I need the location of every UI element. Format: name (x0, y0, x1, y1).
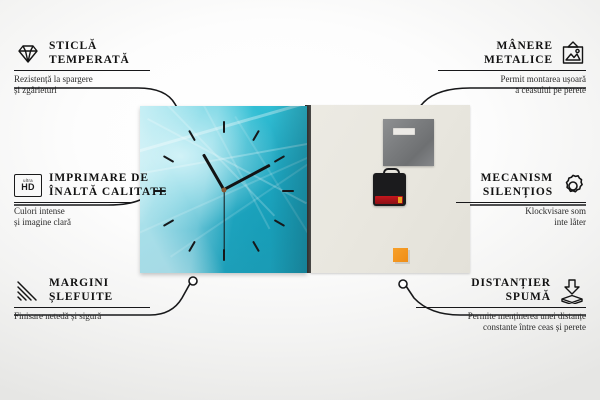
minute-hand (223, 164, 270, 191)
feature-sub-line1: Rezistență la spargere (14, 74, 164, 85)
feature-title-line2: TEMPERATĂ (49, 54, 130, 68)
feature-sub-line2: și zgârieturi (14, 85, 164, 96)
feature-metal-handles: MÂNERE METALICE Permit montarea ușoară a… (416, 40, 586, 96)
foam-spacer (393, 248, 408, 262)
hanger-slot (393, 128, 415, 135)
feature-rule (14, 307, 150, 308)
feature-title-line2: SPUMĂ (471, 291, 551, 305)
connector-dot-polished-edges (189, 277, 197, 285)
feature-silent-mechanism: MECANISM SILENȚIOS Klockvisare som inte … (416, 172, 586, 228)
feature-title-line2: ȘLEFUITE (49, 291, 113, 305)
feature-sub-line1: Permite menținerea unei distanțe (396, 311, 586, 322)
feature-rule (14, 202, 134, 203)
feature-rule (14, 70, 150, 71)
feature-title-line1: MÂNERE (484, 40, 553, 54)
feature-title-line1: IMPRIMARE DE (49, 172, 167, 186)
press-down-pad-icon (558, 278, 586, 304)
feature-rule (456, 202, 586, 203)
ultra-hd-icon: ultra HD (14, 174, 42, 197)
feature-sub-line2: și imagine clară (14, 217, 174, 228)
feature-title-line1: STICLĂ (49, 40, 130, 54)
feature-high-quality-print: ultra HD IMPRIMARE DE ÎNALTĂ CALITATE Cu… (14, 172, 174, 228)
feature-rule (416, 307, 586, 308)
second-hand (223, 190, 224, 252)
feature-title-line2: ÎNALTĂ CALITATE (49, 186, 167, 200)
feature-title-line2: SILENȚIOS (481, 186, 553, 200)
feature-title-line1: MECANISM (481, 172, 553, 186)
battery (375, 196, 403, 204)
gear-icon (560, 173, 586, 199)
feature-sub-line1: Finisare netedă și sigură (14, 311, 174, 322)
battery-terminal (398, 197, 402, 203)
ultra-hd-icon-main: HD (21, 183, 34, 192)
hour-hand (202, 153, 225, 190)
feature-title-line2: METALICE (484, 54, 553, 68)
diamond-icon (14, 43, 42, 65)
feature-title-line1: MARGINI (49, 277, 113, 291)
mechanism-hanger-loop (383, 168, 400, 178)
polished-edge-icon (14, 279, 42, 302)
quartz-mechanism (373, 173, 406, 206)
feature-sub-line2: constante între ceas și perete (396, 322, 586, 333)
feature-sub-line1: Culori intense (14, 206, 174, 217)
feature-tempered-glass: STICLĂ TEMPERATĂ Rezistență la spargere … (14, 40, 164, 96)
feature-foam-spacer: DISTANȚIER SPUMĂ Permite menținerea unei… (396, 277, 586, 333)
clock-hub (221, 187, 226, 192)
feature-sub-line2: a ceasului pe perete (416, 85, 586, 96)
wall-mount-frame-icon (560, 41, 586, 66)
feature-sub-line2: inte låter (416, 217, 586, 228)
feature-sub-line1: Klockvisare som (416, 206, 586, 217)
feature-polished-edges: MARGINI ȘLEFUITE Finisare netedă și sigu… (14, 277, 174, 322)
metal-hanger-plate (383, 119, 434, 166)
feature-rule (438, 70, 586, 71)
feature-sub-line1: Permit montarea ușoară (416, 74, 586, 85)
feature-title-line1: DISTANȚIER (471, 277, 551, 291)
infographic-canvas: STICLĂ TEMPERATĂ Rezistență la spargere … (0, 0, 600, 400)
